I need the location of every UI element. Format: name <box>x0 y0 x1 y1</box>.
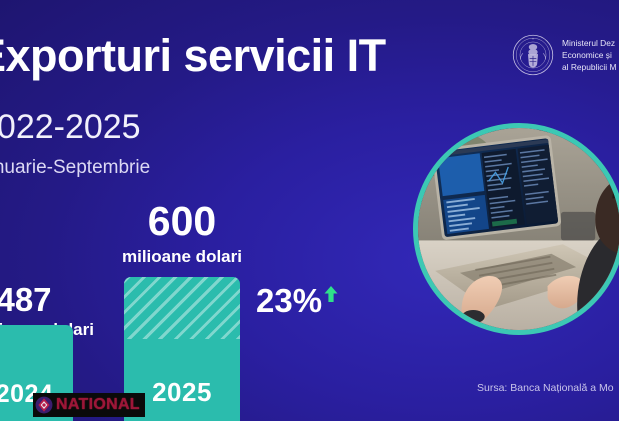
watermark-national: NATIONAL <box>33 393 145 417</box>
arrow-up-icon <box>323 285 339 303</box>
growth-value: 23% <box>256 282 322 320</box>
watermark-text: NATIONAL <box>56 396 140 414</box>
ministry-line-2: Economice și <box>562 49 616 61</box>
ministry-name: Ministerul Dez Economice și al Republici… <box>562 37 616 74</box>
source-label: Sursa: Banca Națională a Mo <box>477 382 614 394</box>
period-label: Ianuarie-Septembrie <box>0 157 150 179</box>
national-logo-icon <box>35 396 53 414</box>
ministry-line-1: Ministerul Dez <box>562 37 616 49</box>
page-title: Exporturi servicii IT <box>0 32 386 79</box>
value-number-2024: 487 <box>0 283 74 316</box>
value-label-2025: 600 milioane dolari <box>118 201 246 267</box>
moldova-coat-of-arms-icon: ★ <box>512 34 554 76</box>
growth-annotation: 23% <box>256 282 339 320</box>
infographic-canvas: Exporturi servicii IT 2022-2025 Ianuarie… <box>0 0 619 421</box>
bar-hatch-overlay <box>124 277 240 339</box>
value-unit-2025: milioane dolari <box>118 247 246 267</box>
laptop-scene-illustration <box>418 128 619 330</box>
ministry-lockup: ★ Ministerul Dez Economice și al Republi… <box>512 34 616 76</box>
person-using-laptop-photo <box>413 123 619 335</box>
years-range-label: 2022-2025 <box>0 108 141 147</box>
value-number-2025: 600 <box>118 201 246 242</box>
ministry-line-3: al Republicii M <box>562 61 616 73</box>
